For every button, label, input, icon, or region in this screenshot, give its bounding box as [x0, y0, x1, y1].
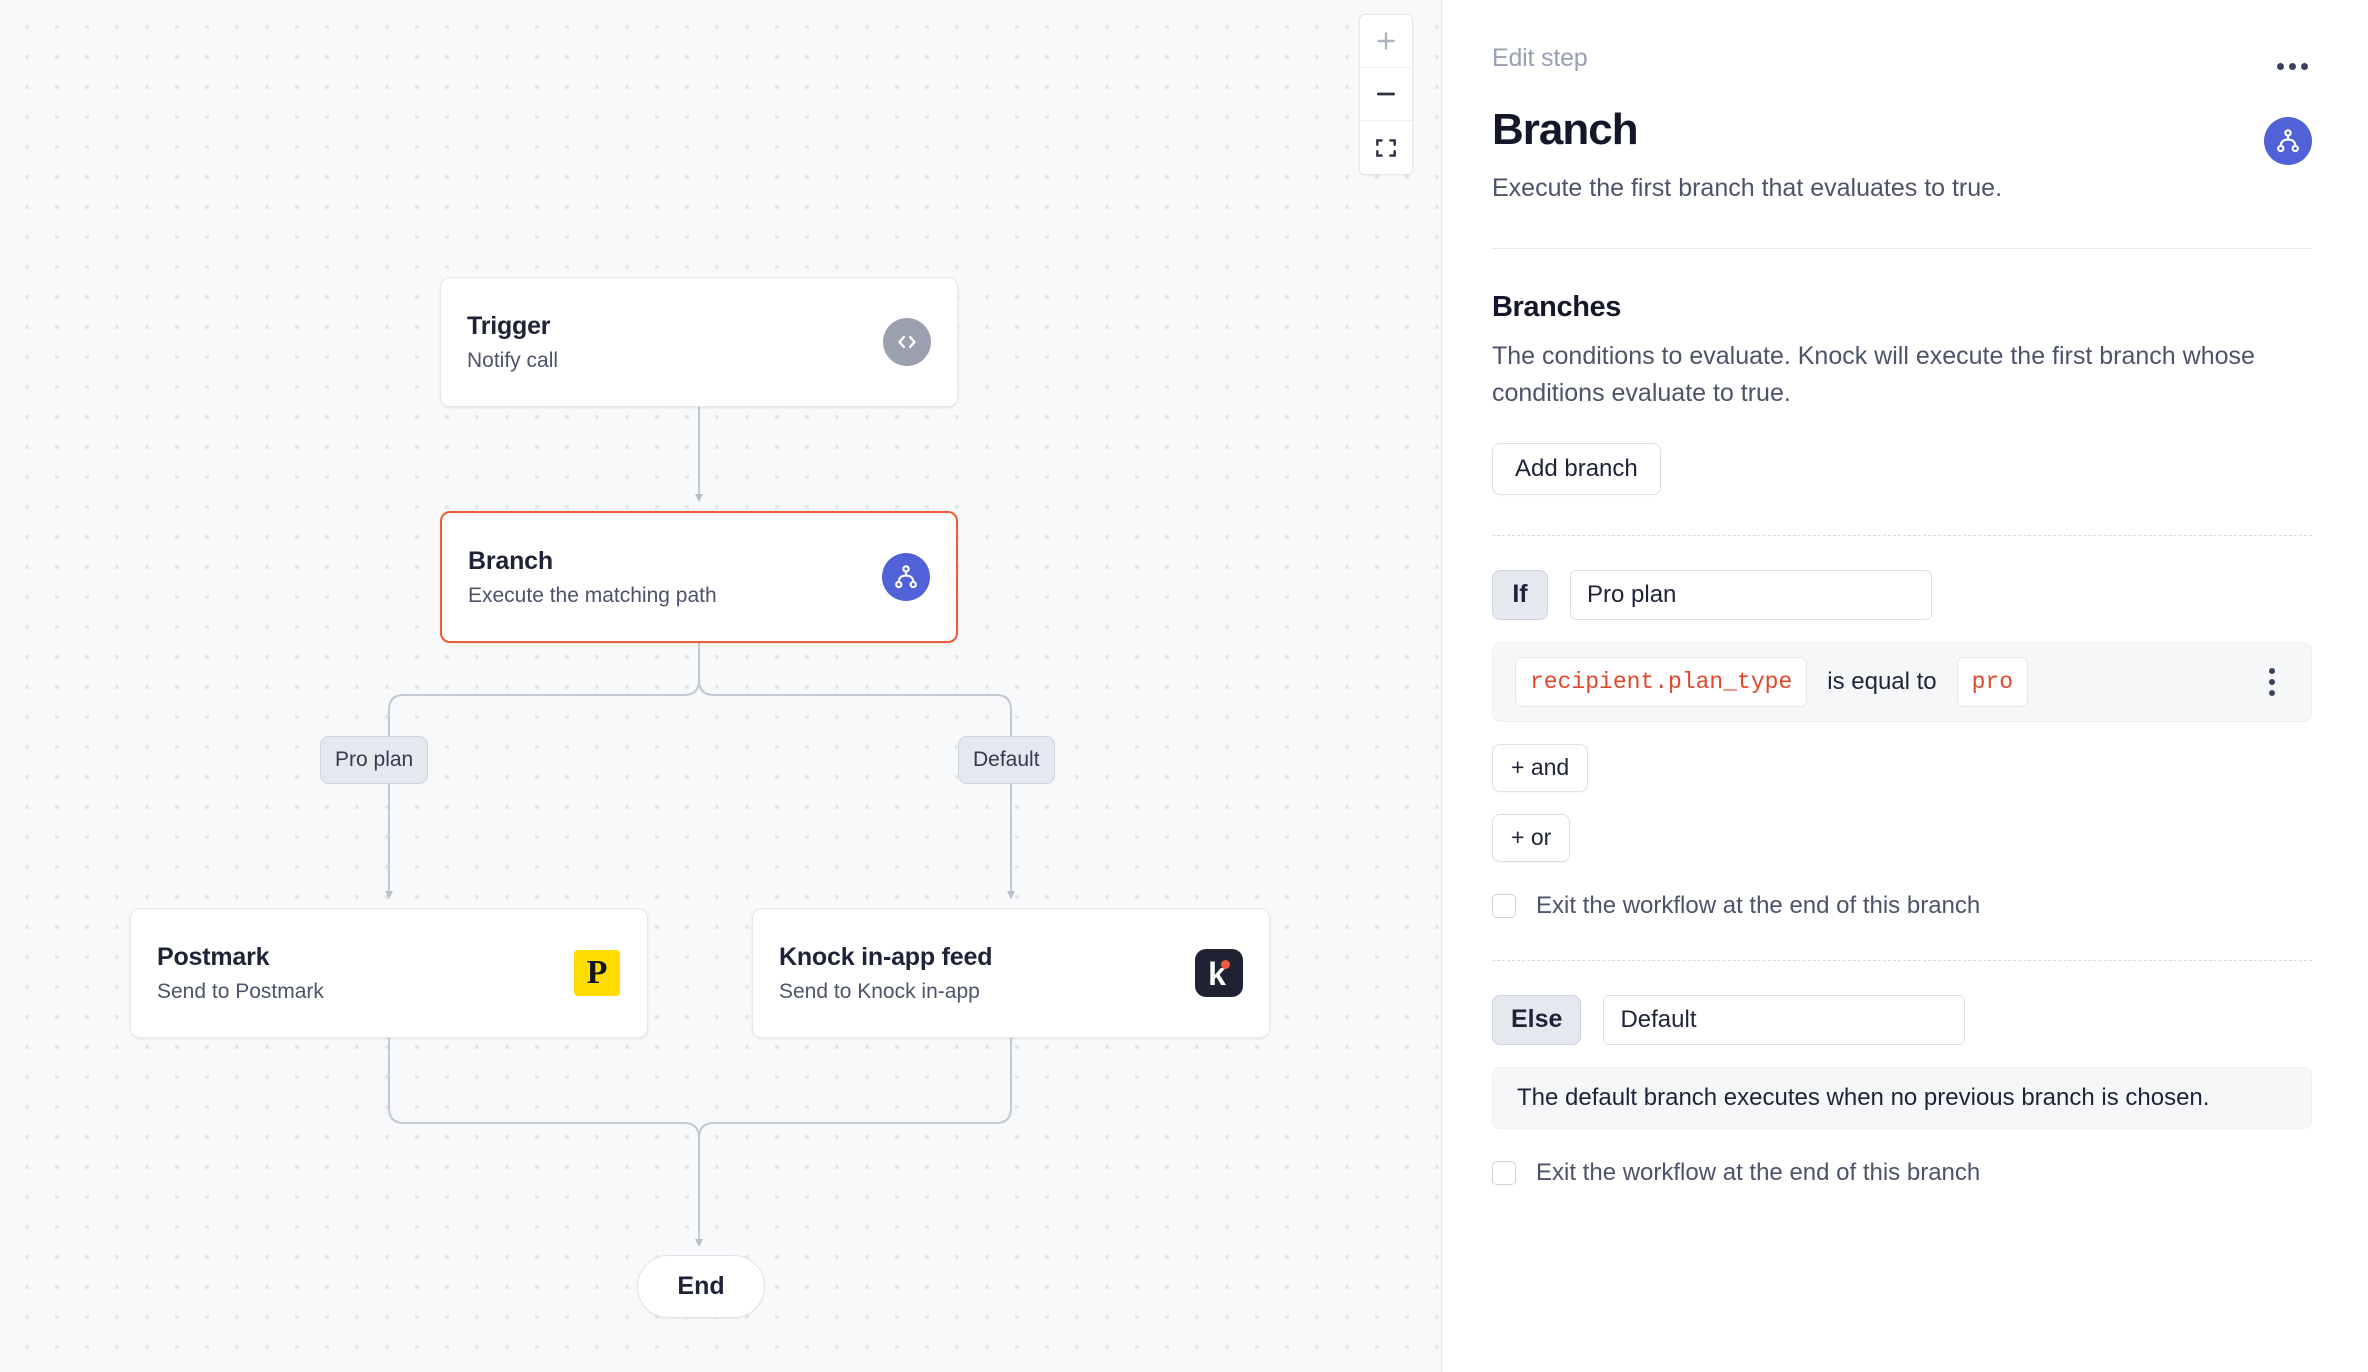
add-or-button[interactable]: + or	[1492, 814, 1570, 862]
branch-if-header: If	[1492, 570, 2312, 620]
exit-workflow-label: Exit the workflow at the end of this bra…	[1536, 892, 1980, 920]
plus-icon	[1373, 28, 1399, 54]
panel-step-icon	[2264, 117, 2312, 165]
condition-value-token[interactable]: pro	[1957, 657, 2028, 707]
branch-else-exit-row: Exit the workflow at the end of this bra…	[1492, 1159, 2312, 1187]
connector-layer	[0, 0, 1442, 1372]
end-node-label: End	[677, 1272, 724, 1301]
edge-label-default[interactable]: Default	[958, 736, 1055, 784]
node-icon	[883, 318, 931, 366]
add-branch-button[interactable]: Add branch	[1492, 443, 1661, 495]
more-options-icon[interactable]	[2272, 49, 2312, 83]
minus-icon	[1373, 81, 1399, 107]
node-text: Postmark Send to Postmark	[157, 942, 555, 1004]
branches-section-description: The conditions to evaluate. Knock will e…	[1492, 338, 2312, 411]
node-subtitle: Notify call	[467, 348, 865, 373]
edit-step-panel: Edit step Branch Execute the first branc…	[1442, 0, 2368, 1372]
workflow-node-branch[interactable]: Branch Execute the matching path	[440, 511, 958, 643]
edge-label-pro-plan[interactable]: Pro plan	[320, 736, 428, 784]
node-text: Knock in-app feed Send to Knock in-app	[779, 942, 1177, 1004]
node-subtitle: Send to Knock in-app	[779, 979, 1177, 1004]
node-title: Trigger	[467, 311, 865, 341]
branch-if-pill[interactable]: If	[1492, 570, 1548, 620]
branch-if: If recipient.plan_type is equal to pro +…	[1492, 570, 2312, 920]
panel-topbar: Edit step	[1492, 44, 2312, 83]
condition-row: recipient.plan_type is equal to pro	[1492, 642, 2312, 722]
add-and-button[interactable]: + and	[1492, 744, 1588, 792]
branch-else-header: Else	[1492, 995, 2312, 1045]
branch-divider-else	[1492, 960, 2312, 961]
edge-label-text: Pro plan	[335, 748, 413, 772]
panel-headline: Branch Execute the first branch that eva…	[1492, 107, 2312, 204]
add-and-wrap: + and	[1492, 744, 2312, 792]
branch-else-name-input[interactable]	[1603, 995, 1965, 1045]
zoom-out-button[interactable]	[1360, 68, 1412, 121]
workflow-node-trigger[interactable]: Trigger Notify call	[440, 277, 958, 407]
section-divider	[1492, 248, 2312, 249]
node-subtitle: Execute the matching path	[468, 583, 864, 608]
page-description: Execute the first branch that evaluates …	[1492, 173, 2002, 204]
node-title: Postmark	[157, 942, 555, 972]
dot	[2277, 63, 2284, 70]
dot	[2269, 668, 2275, 674]
knock-logo-icon: k	[1195, 949, 1243, 997]
branch-else-pill[interactable]: Else	[1492, 995, 1581, 1045]
node-title: Knock in-app feed	[779, 942, 1177, 972]
default-branch-note: The default branch executes when no prev…	[1492, 1067, 2312, 1129]
condition-variable-token[interactable]: recipient.plan_type	[1515, 657, 1807, 707]
branch-if-exit-row: Exit the workflow at the end of this bra…	[1492, 892, 2312, 920]
add-branch-wrap: Add branch	[1492, 443, 2312, 495]
exit-workflow-label: Exit the workflow at the end of this bra…	[1536, 1159, 1980, 1187]
workflow-node-end[interactable]: End	[637, 1255, 765, 1318]
zoom-in-button[interactable]	[1360, 15, 1412, 68]
node-title: Branch	[468, 546, 864, 576]
dot	[2269, 679, 2275, 685]
workflow-canvas[interactable]: Trigger Notify call Branch Execute the m…	[0, 0, 1442, 1372]
node-subtitle: Send to Postmark	[157, 979, 555, 1004]
panel-eyebrow: Edit step	[1492, 44, 1587, 73]
branch-divider-if	[1492, 535, 2312, 536]
condition-operator[interactable]: is equal to	[1827, 668, 1936, 696]
edge-label-text: Default	[973, 748, 1040, 772]
branch-else: Else The default branch executes when no…	[1492, 995, 2312, 1187]
postmark-logo-icon: P	[574, 950, 620, 996]
branch-icon	[2264, 117, 2312, 165]
dot	[2269, 690, 2275, 696]
node-text: Trigger Notify call	[467, 311, 865, 373]
exit-workflow-checkbox[interactable]	[1492, 894, 1516, 918]
fit-view-button[interactable]	[1360, 121, 1412, 174]
dot	[2289, 63, 2296, 70]
page-title: Branch	[1492, 107, 2002, 153]
branch-if-conditions: recipient.plan_type is equal to pro + an…	[1492, 642, 2312, 792]
postmark-logo-letter: P	[587, 956, 608, 990]
workflow-node-knock-in-app-feed[interactable]: Knock in-app feed Send to Knock in-app k	[752, 908, 1270, 1038]
node-icon: k	[1195, 949, 1243, 997]
dot	[2301, 63, 2308, 70]
workflow-node-postmark[interactable]: Postmark Send to Postmark P	[130, 908, 648, 1038]
zoom-controls	[1359, 14, 1413, 175]
node-icon	[882, 553, 930, 601]
condition-options-icon[interactable]	[2255, 660, 2289, 704]
branch-if-name-input[interactable]	[1570, 570, 1932, 620]
branches-section-title: Branches	[1492, 291, 2312, 324]
code-brackets-icon	[883, 318, 931, 366]
panel-headline-text: Branch Execute the first branch that eva…	[1492, 107, 2002, 204]
node-text: Branch Execute the matching path	[468, 546, 864, 608]
workflow-editor: Trigger Notify call Branch Execute the m…	[0, 0, 2368, 1372]
exit-workflow-checkbox[interactable]	[1492, 1161, 1516, 1185]
fit-screen-icon	[1373, 135, 1399, 161]
branch-icon	[882, 553, 930, 601]
knock-logo-dot	[1221, 960, 1230, 969]
add-or-wrap: + or	[1492, 814, 2312, 862]
node-icon: P	[573, 949, 621, 997]
